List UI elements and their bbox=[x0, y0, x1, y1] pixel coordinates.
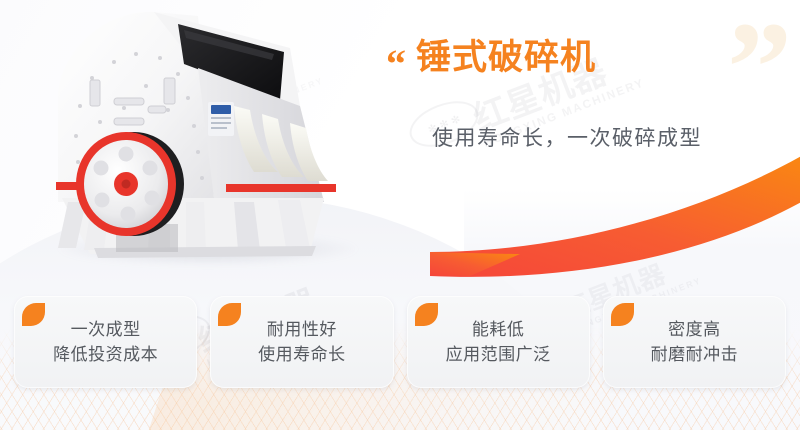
feature-card-line2: 使用寿命长 bbox=[258, 342, 346, 368]
corner-leaf-icon bbox=[611, 303, 634, 326]
feature-card-line1: 密度高 bbox=[668, 317, 721, 343]
quote-open-icon: “ bbox=[386, 44, 406, 84]
product-image-hammer-crusher bbox=[28, 2, 358, 270]
corner-leaf-icon bbox=[22, 303, 45, 326]
feature-card-line1: 耐用性好 bbox=[267, 317, 337, 343]
feature-card-line1: 能耗低 bbox=[472, 317, 525, 343]
feature-card[interactable]: 耐用性好 使用寿命长 bbox=[210, 296, 393, 388]
feature-card[interactable]: 密度高 耐磨耐冲击 bbox=[603, 296, 786, 388]
feature-card-list: 一次成型 降低投资成本 耐用性好 使用寿命长 能耗低 应用范围广泛 密度高 耐磨… bbox=[14, 296, 786, 388]
headline-block: “ 锤式破碎机 bbox=[386, 38, 786, 84]
feature-card-line2: 降低投资成本 bbox=[53, 342, 158, 368]
feature-card-line2: 应用范围广泛 bbox=[446, 342, 551, 368]
feature-card-line2: 耐磨耐冲击 bbox=[651, 342, 739, 368]
promo-banner: 红星机器HONGXING MACHINERY 红星机器HONGXING MACH… bbox=[0, 0, 800, 430]
feature-card[interactable]: 一次成型 降低投资成本 bbox=[14, 296, 197, 388]
corner-leaf-icon bbox=[218, 303, 241, 326]
feature-card[interactable]: 能耗低 应用范围广泛 bbox=[407, 296, 590, 388]
feature-card-line1: 一次成型 bbox=[71, 317, 141, 343]
page-subtitle: 使用寿命长，一次破碎成型 bbox=[432, 122, 702, 152]
page-title: 锤式破碎机 bbox=[416, 38, 596, 77]
corner-leaf-icon bbox=[415, 303, 438, 326]
